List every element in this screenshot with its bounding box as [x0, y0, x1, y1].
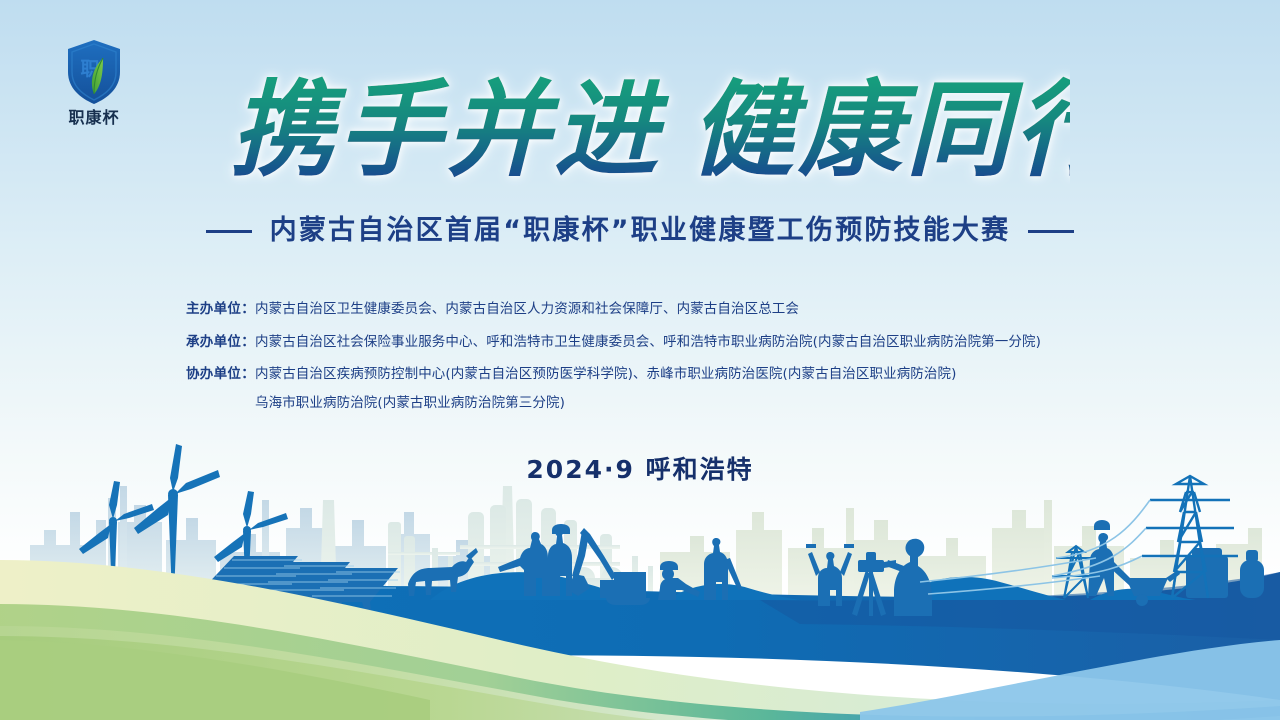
subtitle-text: 内蒙古自治区首届“职康杯”职业健康暨工伤预防技能大赛 — [270, 215, 1011, 247]
organizer-row: 协办单位： 内蒙古自治区疾病预防控制中心(内蒙古自治区预防医学科学院)、赤峰市职… — [186, 365, 1146, 413]
organizers-block: 主办单位： 内蒙古自治区卫生健康委员会、内蒙古自治区人力资源和社会保障厅、内蒙古… — [186, 300, 1146, 426]
title-line-1: 携手并进 — [230, 68, 670, 191]
organizer-value: 内蒙古自治区社会保险事业服务中心、呼和浩特市卫生健康委员会、呼和浩特市职业病防治… — [255, 333, 1041, 353]
event-date-place: 2024·9 呼和浩特 — [0, 450, 1280, 486]
organizer-label: 承办单位： — [186, 333, 255, 353]
organizer-row: 承办单位： 内蒙古自治区社会保险事业服务中心、呼和浩特市卫生健康委员会、呼和浩特… — [186, 333, 1146, 353]
subtitle-dash-right — [1028, 230, 1074, 233]
title-line-2: 健康同行 — [690, 68, 1070, 191]
page-title: 携手并进 健康同行 — [0, 62, 1280, 197]
organizer-value: 内蒙古自治区疾病预防控制中心(内蒙古自治区预防医学科学院)、赤峰市职业病防治医院… — [255, 365, 956, 413]
organizer-label: 协办单位： — [186, 365, 255, 385]
subtitle-row: 内蒙古自治区首届“职康杯”职业健康暨工伤预防技能大赛 — [0, 215, 1280, 247]
organizer-label: 主办单位： — [186, 300, 255, 320]
organizer-value: 内蒙古自治区卫生健康委员会、内蒙古自治区人力资源和社会保障厅、内蒙古自治区总工会 — [255, 300, 799, 320]
poster-canvas: 职 职康杯 携手并进 健康同行 — [0, 0, 1280, 720]
organizer-row: 主办单位： 内蒙古自治区卫生健康委员会、内蒙古自治区人力资源和社会保障厅、内蒙古… — [186, 300, 1146, 320]
subtitle-dash-left — [206, 230, 252, 233]
